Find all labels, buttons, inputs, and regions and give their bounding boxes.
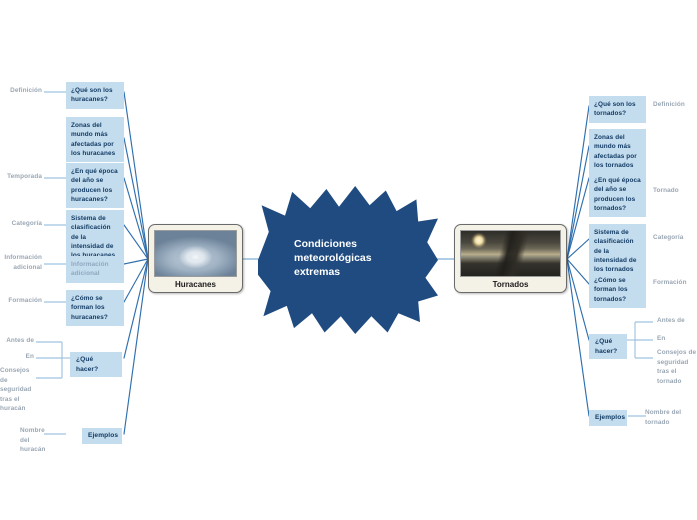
leaf-huracanes-antes-de[interactable]: Antes de: [0, 336, 34, 346]
topic-huracanes-ejemplos[interactable]: Ejemplos: [82, 428, 122, 444]
main-node-tornados-caption: Tornados: [460, 277, 561, 289]
leaf-huracanes-temporada[interactable]: Temporada: [0, 172, 42, 182]
leaf-tornados-nombre[interactable]: Nombre del tornado: [645, 408, 697, 427]
topic-huracanes-zonas[interactable]: Zonas del mundo más afectadas por los hu…: [66, 117, 124, 162]
central-topic-label: Condiciones meteorológicas extremas: [294, 238, 414, 280]
leaf-tornados-antes-de[interactable]: Antes de: [657, 316, 697, 326]
leaf-huracanes-consejos[interactable]: Consejos de seguridad tras el huracán: [0, 366, 34, 414]
leaf-tornados-formacion[interactable]: Formación: [653, 278, 697, 288]
topic-huracanes-que-hacer[interactable]: ¿Qué hacer?: [70, 352, 122, 377]
topic-tornados-temporada[interactable]: ¿En qué época del año se producen los to…: [589, 172, 646, 217]
leaf-tornados-consejos[interactable]: Consejos de seguridad tras el tornado: [657, 348, 697, 386]
main-node-tornados[interactable]: Tornados: [454, 224, 567, 293]
main-node-huracanes-caption: Huracanes: [154, 277, 237, 289]
topic-huracanes-formacion[interactable]: ¿Cómo se forman los huracanes?: [66, 290, 124, 326]
central-topic-node[interactable]: Condiciones meteorológicas extremas: [258, 186, 438, 334]
leaf-tornados-categoria[interactable]: Categoría: [653, 233, 697, 243]
tornado-sunset-photo: [460, 230, 561, 277]
topic-tornados-categoria[interactable]: Sistema de clasificación de la intensida…: [589, 224, 646, 278]
topic-tornados-formacion[interactable]: ¿Cómo se forman los tornados?: [589, 272, 646, 308]
leaf-tornados-en[interactable]: En: [657, 334, 697, 344]
topic-tornados-que-hacer[interactable]: ¿Qué hacer?: [589, 334, 627, 359]
topic-huracanes-temporada[interactable]: ¿En qué época del año se producen los hu…: [66, 163, 124, 208]
leaf-huracanes-definicion[interactable]: Definición: [0, 86, 42, 96]
leaf-huracanes-informacion-adicional[interactable]: Información adicional: [0, 253, 42, 272]
leaf-tornados-temporada[interactable]: Tornado: [653, 186, 697, 196]
leaf-huracanes-formacion[interactable]: Formación: [0, 296, 42, 306]
topic-tornados-zonas[interactable]: Zonas del mundo más afectadas por los to…: [589, 129, 646, 174]
leaf-huracanes-categoria[interactable]: Categoría: [0, 219, 42, 229]
topic-tornados-definicion[interactable]: ¿Qué son los tornados?: [589, 96, 646, 123]
topic-huracanes-informacion-adicional[interactable]: Información adicional: [66, 256, 124, 283]
mindmap-canvas: Condiciones meteorológicas extremas Hura…: [0, 0, 697, 520]
leaf-huracanes-en[interactable]: En: [0, 352, 34, 362]
topic-tornados-ejemplos[interactable]: Ejemplos: [589, 410, 627, 426]
leaf-huracanes-nombre[interactable]: Nombre del huracán: [0, 426, 42, 455]
topic-huracanes-definicion[interactable]: ¿Qué son los huracanes?: [66, 82, 124, 109]
main-node-huracanes[interactable]: Huracanes: [148, 224, 243, 293]
hurricane-satellite-photo: [154, 230, 237, 277]
leaf-tornados-definicion[interactable]: Definición: [653, 100, 697, 110]
